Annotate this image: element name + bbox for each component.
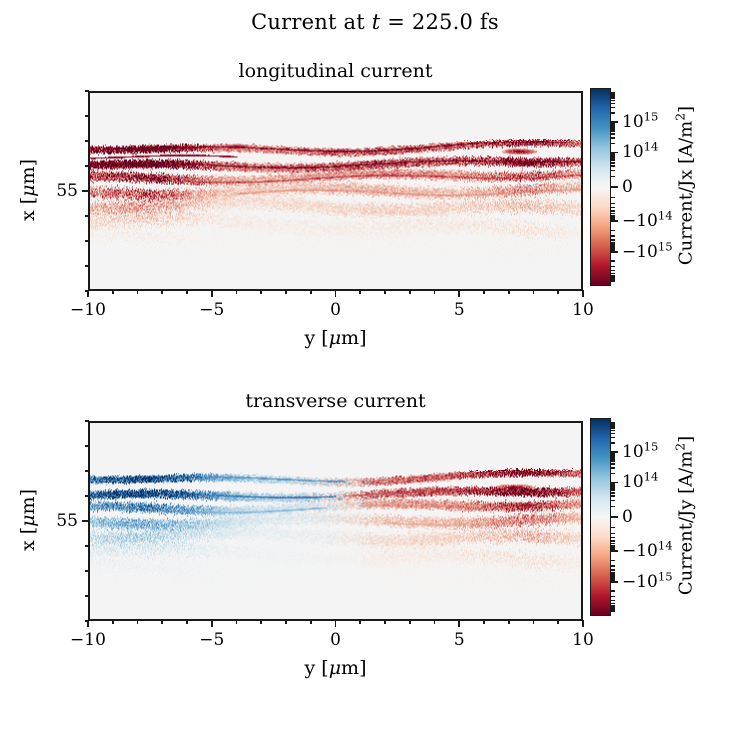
colorbar-tick-minor [611,489,615,491]
colorbar-tick-minor [611,123,615,125]
xtick-minor [508,290,510,294]
xtick-minor [236,620,238,624]
colorbar-tick-minor [611,611,615,613]
colorbar-label-longitudinal: Current/Jx [A/m2] [676,87,697,285]
xtick-major [582,620,584,627]
colorbar-tick-minor [611,487,615,489]
colorbar-tick-minor [611,266,615,268]
panel-title-longitudinal: longitudinal current [88,60,583,82]
colorbar-tick-minor [611,560,615,562]
colorbar-tick-major [611,550,618,552]
xtick-minor [409,620,411,624]
colorbar-gradient-longitudinal [591,89,610,285]
yaxis-label: x [μm] [17,140,39,240]
colorbar-tick-minor [611,230,615,232]
colorbar-tick-minor [611,424,615,426]
colorbar-tick-minor [611,242,615,244]
colorbar-tick-minor [611,143,615,145]
colorbar-tick-minor [611,485,615,487]
xtick-minor [260,620,262,624]
colorbar-tick-minor [611,537,615,539]
suptitle-rest: = 225.0 fs [380,10,499,34]
colorbar-tick-minor [611,492,615,494]
xtick-minor [137,290,139,294]
xtick-major [335,620,337,627]
colorbar-tick-minor [611,454,615,456]
ytick-minor [85,215,89,217]
xticklabel: −10 [70,630,106,650]
colorbar-tick-minor [611,157,615,159]
xtick-minor [186,620,188,624]
colorbar-tick-minor [611,197,615,199]
xtick-minor [533,290,535,294]
colorbar-tick-minor [611,176,615,178]
colorbar-tick-minor [611,95,615,97]
colorbar-tick-minor [611,124,615,126]
ytick-major [82,190,89,192]
colorbar-tick-minor [611,463,615,465]
colorbar-ticklabel: −1015 [622,242,673,262]
plot-area-transverse [88,421,583,621]
colorbar-tick-minor [611,467,615,469]
heatmap-longitudinal [90,93,581,289]
colorbar-tick-minor [611,126,615,128]
colorbar-ticklabel: −1015 [622,572,673,592]
xtick-minor [112,290,114,294]
xtick-minor [161,290,163,294]
xticklabel: 5 [454,630,465,650]
xtick-minor [557,290,559,294]
colorbar-tick-minor [611,600,615,602]
colorbar-tick-minor [611,137,615,139]
xticklabel: −5 [199,630,224,650]
xtick-minor [359,620,361,624]
ytick-minor [85,140,89,142]
figure-suptitle: Current at t = 225.0 fs [0,10,750,34]
colorbar-tick-minor [611,112,615,114]
xtick-minor [483,620,485,624]
xtick-minor [557,620,559,624]
colorbar-tick-major [611,516,618,518]
colorbar-tick-minor [611,97,615,99]
colorbar-tick-minor [611,549,615,551]
colorbar-ticklabel: 0 [622,507,633,527]
colorbar-tick-minor [611,162,615,164]
xtick-major [211,290,213,297]
colorbar-tick-minor [611,100,615,102]
colorbar-tick-minor [611,425,615,427]
ytick-minor [85,595,89,597]
colorbar-tick-minor [611,540,615,542]
colorbar-gradient-transverse [591,419,610,615]
colorbar-tick-minor [611,453,615,455]
xtick-minor [434,620,436,624]
xtick-major [458,620,460,627]
xtick-minor [384,290,386,294]
colorbar-tick-minor [611,270,615,272]
colorbar-tick-minor [611,427,615,429]
xtick-minor [384,620,386,624]
xticklabel: 5 [454,300,465,320]
colorbar-tick-minor [611,94,615,96]
colorbar-tick-minor [611,596,615,598]
xticklabel: −5 [199,300,224,320]
colorbar-tick-minor [611,107,615,109]
colorbar-tick-minor [611,527,615,529]
xtick-minor [161,620,163,624]
yaxis-label: x [μm] [17,470,39,570]
colorbar-tick-minor [611,442,615,444]
plot-area-longitudinal [88,91,583,291]
colorbar-tick-minor [611,128,615,130]
colorbar-ticklabel: 0 [622,177,633,197]
colorbar-ticklabel: −1014 [622,541,673,561]
colorbar-tick-minor [611,500,615,502]
colorbar-tick-minor [611,250,615,252]
colorbar-tick-minor [611,483,615,485]
xtick-major [335,290,337,297]
colorbar-tick-minor [611,153,615,155]
xtick-minor [310,290,312,294]
colorbar-tick-minor [611,433,615,435]
xticklabel: 0 [330,630,341,650]
colorbar-tick-minor [611,130,615,132]
heatmap-transverse [90,423,581,619]
colorbar-tick-minor [611,260,615,262]
colorbar-tick-minor [611,422,615,424]
colorbar-tick-minor [611,580,615,582]
xtick-minor [260,290,262,294]
colorbar-tick-minor [611,273,615,275]
xtick-major [458,290,460,297]
xtick-minor [285,620,287,624]
colorbar-tick-minor [611,565,615,567]
xaxis-label: y [μm] [88,327,583,349]
colorbar-tick-minor [611,239,615,241]
colorbar-tick-major [611,186,618,188]
colorbar-tick-minor [611,207,615,209]
colorbar-tick-minor [611,165,615,167]
colorbar-tick-minor [611,133,615,135]
xtick-minor [310,620,312,624]
colorbar-tick-minor [611,603,615,605]
colorbar-tick-minor [611,203,615,205]
colorbar-ticklabel: 1014 [622,142,658,162]
ytick-minor [85,420,89,422]
xtick-major [211,620,213,627]
colorbar-ticklabel: 1015 [622,442,658,462]
xtick-minor [483,290,485,294]
ytick-minor [85,115,89,117]
colorbar-tick-minor [611,103,615,105]
ytick-minor [85,290,89,292]
xticklabel: 10 [572,300,594,320]
ytick-minor [85,570,89,572]
yticklabel: 55 [36,181,78,201]
ytick-minor [85,165,89,167]
colorbar-ticklabel: −1014 [622,211,673,231]
colorbar-tick-minor [611,572,615,574]
colorbar-tick-major [611,220,618,222]
ytick-minor [85,445,89,447]
panel-title-transverse: transverse current [88,390,583,412]
xtick-minor [186,290,188,294]
colorbar-ticklabel: 1015 [622,112,658,132]
xticklabel: 0 [330,300,341,320]
colorbar-label-transverse: Current/Jy [A/m2] [676,417,697,615]
colorbar-tick-minor [611,159,615,161]
figure-canvas: Current at t = 225.0 fs longitudinal cur… [0,0,750,750]
colorbar-tick-minor [611,210,615,212]
colorbar-tick-minor [611,495,615,497]
colorbar-tick-minor [611,460,615,462]
xtick-minor [508,620,510,624]
xtick-minor [236,290,238,294]
colorbar-transverse [590,418,611,616]
colorbar-tick-minor [611,281,615,283]
ytick-minor [85,495,89,497]
ytick-minor [85,545,89,547]
xtick-minor [533,620,535,624]
xticklabel: 10 [572,630,594,650]
colorbar-tick-minor [611,456,615,458]
ytick-minor [85,265,89,267]
xtick-minor [112,620,114,624]
colorbar-tick-minor [611,458,615,460]
yticklabel: 55 [36,511,78,531]
xticklabel: −10 [70,300,106,320]
xtick-minor [434,290,436,294]
ytick-minor [85,240,89,242]
colorbar-tick-minor [611,590,615,592]
xtick-minor [285,290,287,294]
colorbar-longitudinal [590,88,611,286]
xtick-minor [137,620,139,624]
colorbar-tick-minor [611,170,615,172]
ytick-minor [85,620,89,622]
colorbar-tick-minor [611,437,615,439]
colorbar-tick-minor [611,235,615,237]
colorbar-tick-minor [611,430,615,432]
colorbar-tick-minor [611,506,615,508]
suptitle-prefix: Current at [251,10,372,34]
xtick-minor [409,290,411,294]
colorbar-ticklabel: 1014 [622,472,658,492]
colorbar-tick-minor [611,533,615,535]
colorbar-tick-minor [611,473,615,475]
colorbar-tick-minor [611,219,615,221]
ytick-minor [85,90,89,92]
colorbar-tick-minor [611,155,615,157]
xtick-minor [359,290,361,294]
xaxis-label: y [μm] [88,657,583,679]
xtick-major [582,290,584,297]
colorbar-tick-minor [611,569,615,571]
colorbar-tick-minor [611,92,615,94]
ytick-major [82,520,89,522]
ytick-minor [85,470,89,472]
